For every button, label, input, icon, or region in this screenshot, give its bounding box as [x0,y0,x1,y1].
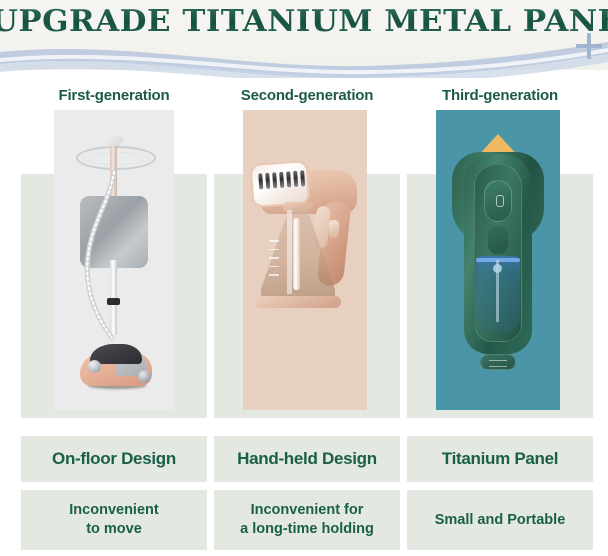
power-button-shape [484,180,512,222]
steam-hole [265,173,270,189]
tank-level-marks [269,240,283,290]
wave-decoration [0,38,608,78]
steam-hose-shape [80,170,124,345]
column-heading-first: First-generation [21,86,207,108]
product-image-third [436,110,560,410]
tank-tick [269,257,279,259]
page-title: UPGRADE TITANIUM METAL PANEL [0,4,608,39]
header-banner: UPGRADE TITANIUM METAL PANEL [0,0,608,78]
product-stage-second [214,110,400,426]
steam-hole [286,171,291,187]
steamer-trigger-shape [329,220,339,238]
handheld-steamer-illustration [243,110,367,410]
label-main-second: Hand-held Design [214,436,400,482]
label-main-first: On-floor Design [21,436,207,482]
product-image-first [54,110,174,410]
product-stage-third [407,110,593,426]
base-wheel-shape [138,370,151,383]
tank-base-shape [255,296,341,308]
label-sub-first-line1: Inconvenient [69,501,158,520]
label-main-third: Titanium Panel [407,436,593,482]
plus-icon-vertical-bar [587,33,591,59]
product-image-second [243,110,367,410]
label-sub-first-line2: to move [69,520,158,539]
titanium-panel-steamer-illustration [436,110,560,410]
product-stage-first [21,110,207,426]
steam-hole [293,171,298,187]
steam-holes-group [258,170,305,189]
label-sub-second-line1: Inconvenient for [240,501,374,520]
label-sub-third: Small and Portable [407,490,593,550]
label-sub-first: Inconvenient to move [21,490,207,550]
tank-intake-tube-shape [293,218,300,290]
column-third-generation: Third-generation [407,86,593,550]
infographic-page: UPGRADE TITANIUM METAL PANEL First-gener… [0,0,608,556]
label-sub-third-line1: Small and Portable [435,511,566,530]
column-first-generation: First-generation [21,86,207,550]
steam-hole [300,170,305,186]
tank-tick [269,240,279,242]
plus-icon [576,33,602,59]
tank-tick [269,249,279,251]
tank-tick [269,274,279,276]
label-sub-second-line2: a long-time holding [240,520,374,539]
column-heading-third: Third-generation [407,86,593,108]
tank-tick [269,266,279,268]
steamer-base-shape [76,338,156,388]
standing-steamer-illustration [54,110,174,410]
steam-hole [272,172,277,188]
label-sub-second: Inconvenient for a long-time holding [214,490,400,550]
steam-hole [279,172,284,188]
steamer-foot-shape [480,354,516,370]
column-second-generation: Second-generation [214,86,400,550]
steam-plate-shape [250,160,311,208]
water-droplet-shape [493,264,502,273]
steam-hole [258,173,263,189]
tank-highlight-shape [287,210,292,294]
base-knob-shape [88,360,101,373]
comparison-columns: First-generation [0,86,608,556]
secondary-button-shape [488,226,508,254]
column-heading-second: Second-generation [214,86,400,108]
